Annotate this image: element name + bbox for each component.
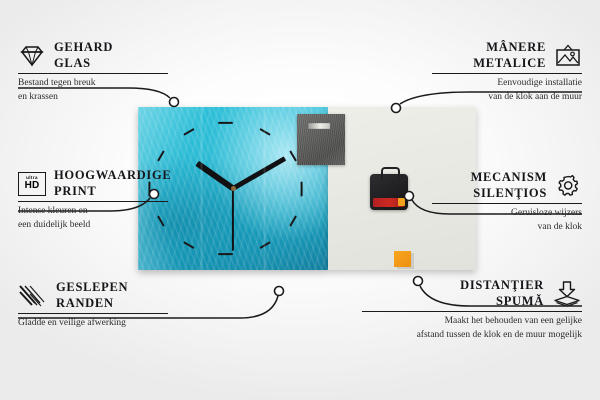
battery-terminal (398, 198, 405, 206)
clock-tick (157, 150, 165, 161)
clock-hour-hand (195, 161, 234, 191)
clock-mechanism (370, 174, 408, 210)
callout-description: Intense kleuren en een duidelijk beeld (18, 205, 168, 232)
callout-header: ultra HD HOOGWAARDIGE PRINT (18, 168, 168, 199)
callout-title-line2: METALICE (473, 56, 546, 72)
callout-description: Geruisloze wijzers van de klok (432, 207, 582, 234)
callout-title: MECANISM SILENŢIOS (471, 170, 547, 201)
callout-title-line1: DISTANŢIER (460, 278, 544, 294)
beveled-edges-icon (18, 283, 48, 308)
clock-tick (183, 128, 194, 136)
callout-header: MÂNERE METALICE (432, 40, 582, 71)
callout-desc-line1: Geruisloze wijzers (432, 207, 582, 220)
callout-divider (432, 203, 582, 204)
callout-title-line1: MÂNERE (473, 40, 546, 56)
clock-second-hand (232, 188, 234, 250)
clock-tick (300, 181, 302, 196)
mechanism-hanger-loop (381, 167, 400, 179)
callout-title: DISTANŢIER SPUMĂ (460, 278, 544, 309)
clock-tick (218, 122, 233, 124)
callout-description: Maakt het behouden van een gelijke afsta… (362, 315, 582, 342)
callout-header: MECANISM SILENŢIOS (432, 170, 582, 201)
callout-title-line2: GLAS (54, 56, 113, 72)
metal-hanger-plate (297, 114, 345, 165)
product-infographic: GEHARD GLAS Bestand tegen breuk en krass… (0, 0, 600, 400)
callout-divider (362, 311, 582, 312)
callout-divider (18, 201, 168, 202)
clock-tick (289, 215, 297, 226)
callout-gehard-glas: GEHARD GLAS Bestand tegen breuk en krass… (18, 40, 168, 104)
gear-icon (555, 173, 582, 198)
callout-manere-metalice: MÂNERE METALICE Eenvoudige installatie v… (432, 40, 582, 104)
callout-title-line2: PRINT (54, 184, 171, 200)
callout-geslepen-randen: GESLEPEN RANDEN Gladde en veilige afwerk… (18, 280, 168, 331)
callout-desc-line2: van de klok (432, 221, 582, 234)
callout-divider (432, 73, 582, 74)
callout-title-line1: GEHARD (54, 40, 113, 56)
callout-title: GESLEPEN RANDEN (56, 280, 128, 311)
picture-frame-icon (554, 43, 582, 68)
callout-title-line2: SPUMĂ (460, 294, 544, 310)
callout-title: MÂNERE METALICE (473, 40, 546, 71)
diamond-icon (18, 43, 46, 68)
callout-title-line1: HOOGWAARDIGE (54, 168, 171, 184)
hanger-slot (308, 123, 330, 129)
callout-desc-line2: van de klok aan de muur (432, 91, 582, 104)
callout-desc-line1: Maakt het behouden van een gelijke (362, 315, 582, 328)
callout-description: Bestand tegen breuk en krassen (18, 77, 168, 104)
callout-description: Eenvoudige installatie van de klok aan d… (432, 77, 582, 104)
callout-header: GEHARD GLAS (18, 40, 168, 71)
callout-title-line1: GESLEPEN (56, 280, 128, 296)
callout-description: Gladde en veilige afwerking (18, 317, 168, 330)
callout-title-line1: MECANISM (471, 170, 547, 186)
clock-tick (289, 150, 297, 161)
callout-desc-line1: Intense kleuren en (18, 205, 168, 218)
callout-mecanism-silentios: MECANISM SILENŢIOS Geruisloze wijzers va… (432, 170, 582, 234)
callout-divider (18, 313, 168, 314)
callout-desc-line1: Bestand tegen breuk (18, 77, 168, 90)
callout-title: GEHARD GLAS (54, 40, 113, 71)
callout-distantier-spuma: DISTANŢIER SPUMĂ Maakt het behouden van … (362, 278, 582, 342)
foam-spacer (394, 251, 411, 267)
clock-tick (218, 253, 233, 255)
callout-title: HOOGWAARDIGE PRINT (54, 168, 171, 199)
clock-tick (259, 241, 270, 249)
ultra-hd-icon: ultra HD (18, 172, 46, 196)
callout-divider (18, 73, 168, 74)
clock-tick (259, 128, 270, 136)
ultra-hd-icon-main-label: HD (25, 181, 40, 191)
clock-hub (231, 186, 236, 191)
clock-tick (183, 241, 194, 249)
callout-header: DISTANŢIER SPUMĂ (362, 278, 582, 309)
callout-desc-line2: en krassen (18, 91, 168, 104)
spacer-arrow-icon (552, 280, 582, 307)
callout-hoogwaardige-print: ultra HD HOOGWAARDIGE PRINT Intense kleu… (18, 168, 168, 232)
callout-desc-line2: een duidelijk beeld (18, 219, 168, 232)
callout-title-line2: RANDEN (56, 296, 128, 312)
callout-desc-line1: Gladde en veilige afwerking (18, 317, 168, 330)
callout-desc-line1: Eenvoudige installatie (432, 77, 582, 90)
callout-header: GESLEPEN RANDEN (18, 280, 168, 311)
clock-minute-hand (232, 156, 286, 190)
callout-title-line2: SILENŢIOS (471, 186, 547, 202)
callout-desc-line2: afstand tussen de klok en de muur mogeli… (362, 329, 582, 342)
